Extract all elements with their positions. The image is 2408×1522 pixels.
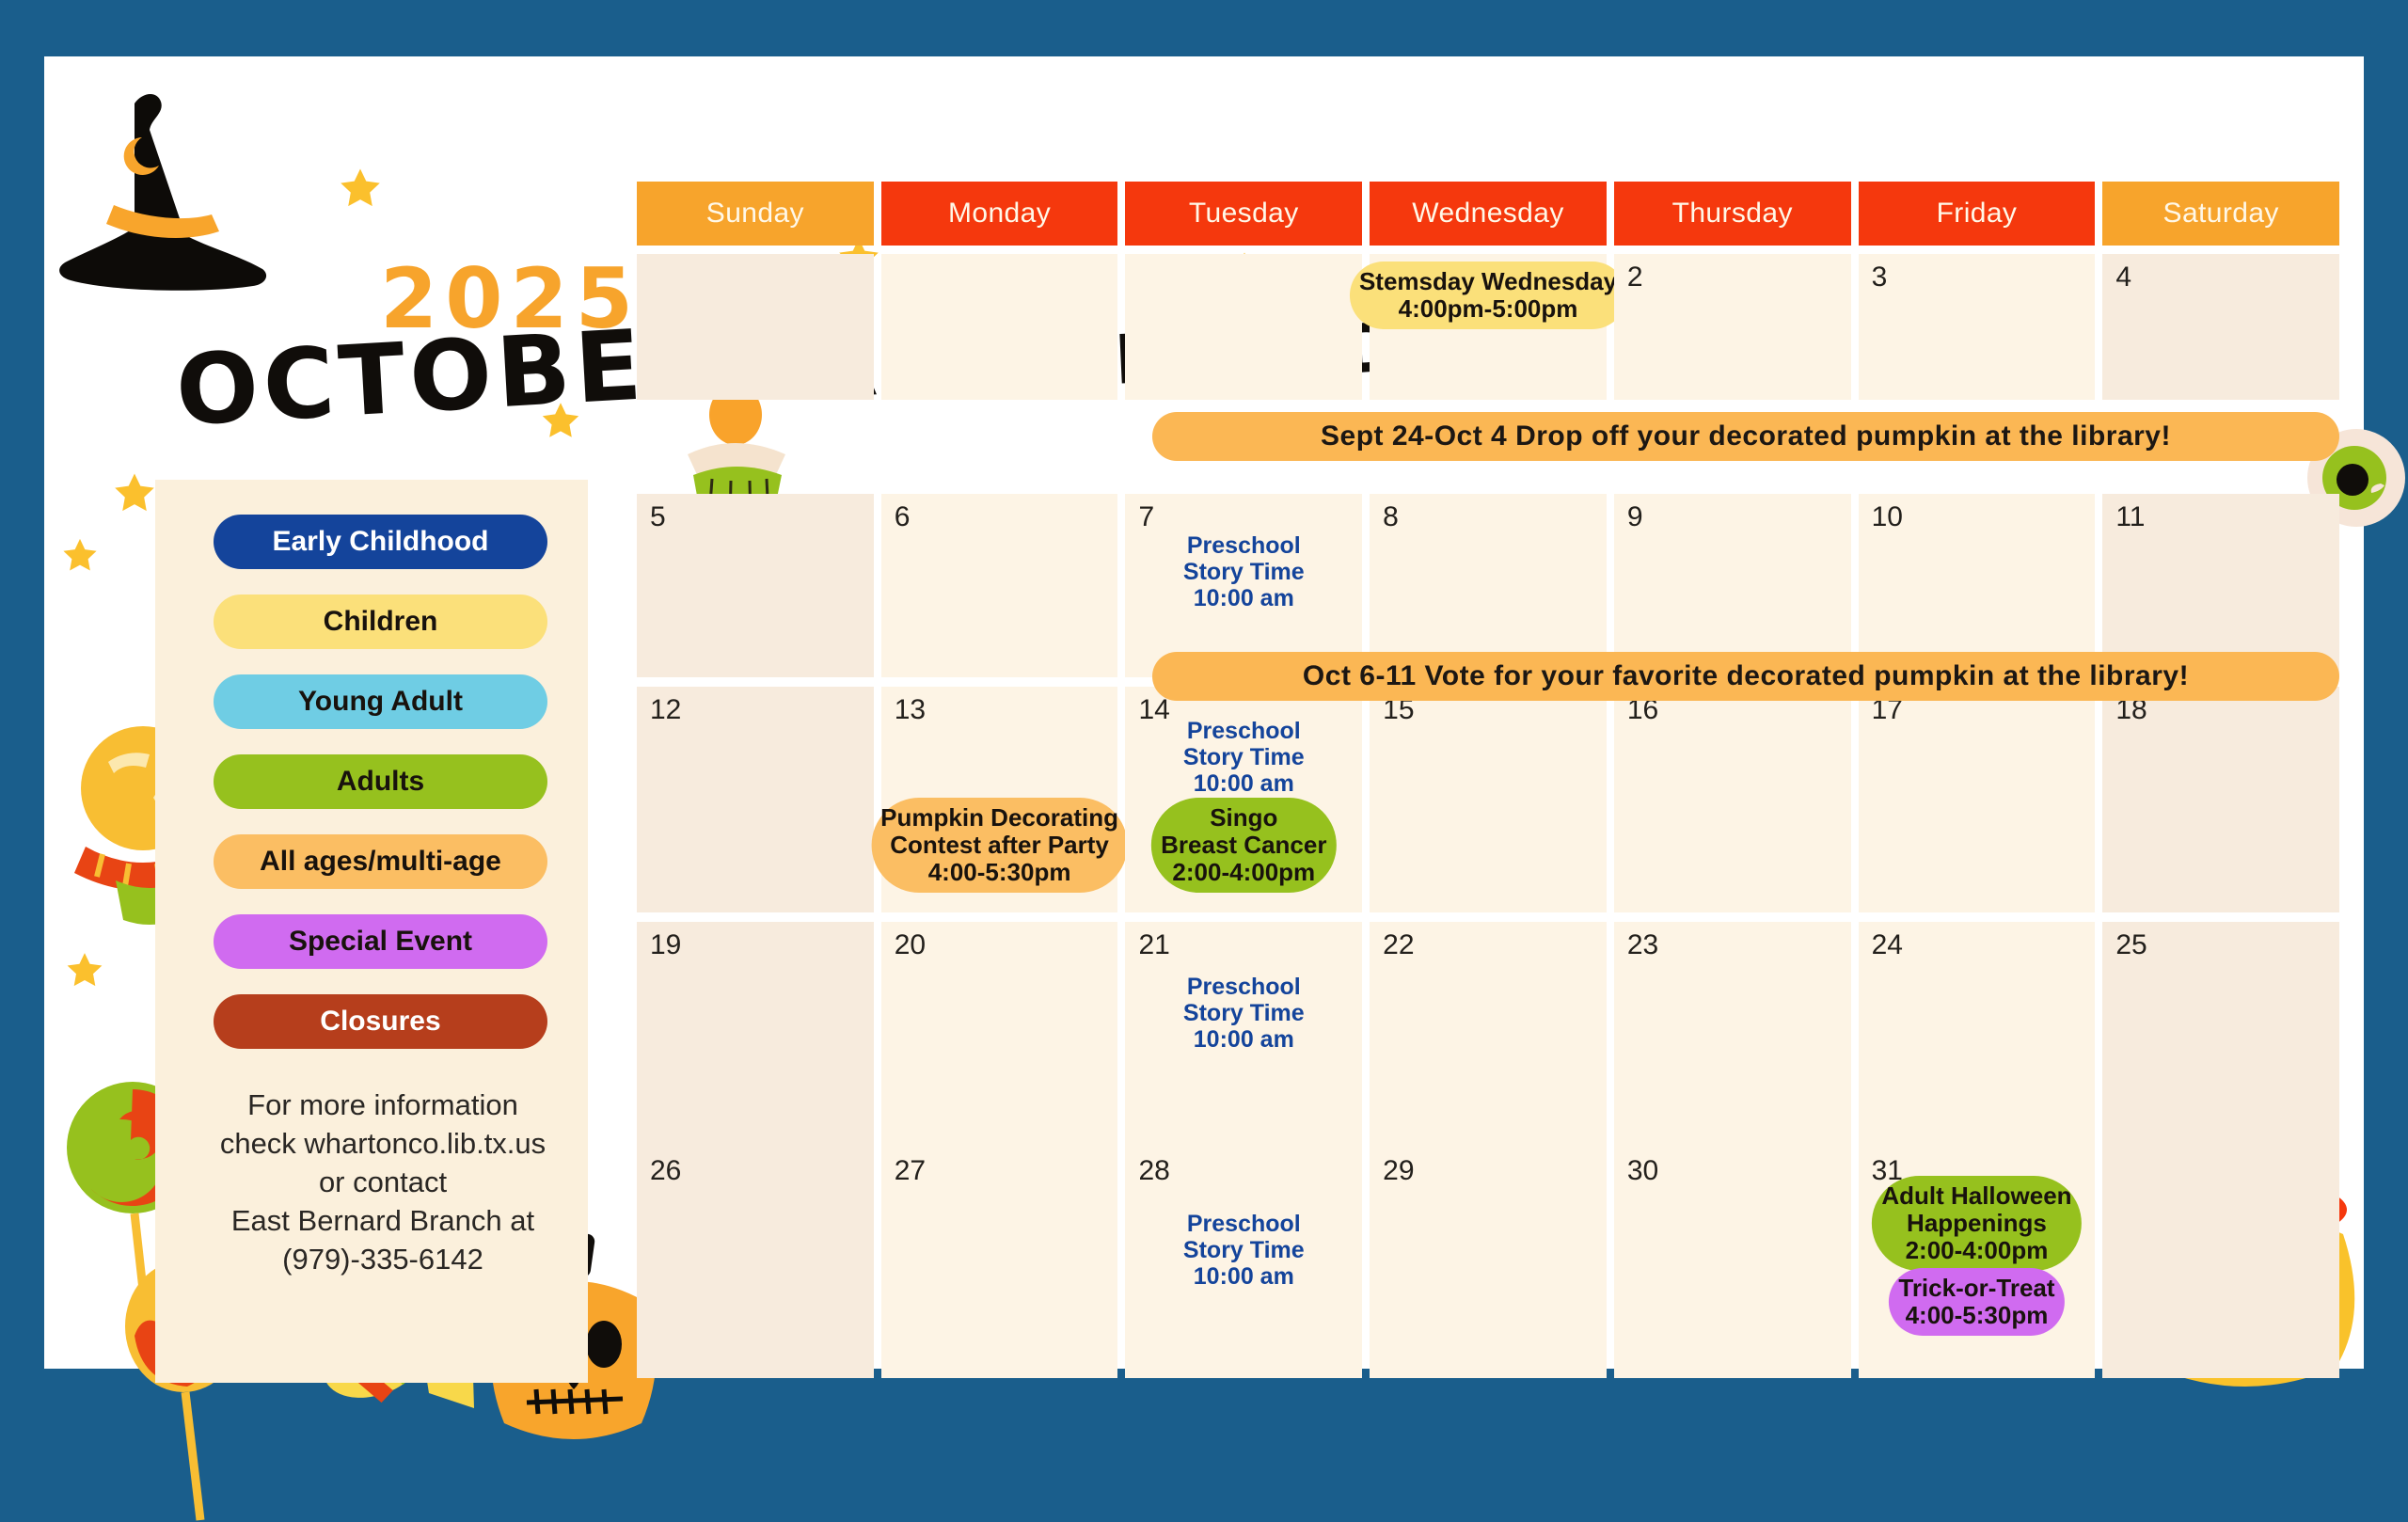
contact-line-1: For more information xyxy=(176,1086,590,1125)
event-time: 10:00 am xyxy=(1183,770,1305,797)
calendar-day-14[interactable]: 14PreschoolStory Time10:00 amSingoBreast… xyxy=(1125,687,1362,912)
event-title: Pumpkin Decorating xyxy=(880,804,1118,832)
star-icon xyxy=(63,950,106,993)
event-title: Preschool xyxy=(1183,1211,1305,1237)
day-number: 21 xyxy=(1138,929,1169,961)
calendar-day-25[interactable]: 25 xyxy=(2102,922,2339,1148)
weekday-header-saturday: Saturday xyxy=(2102,182,2339,246)
event-preschool-story-time[interactable]: PreschoolStory Time10:00 am xyxy=(1174,1204,1314,1296)
calendar-day-empty[interactable] xyxy=(637,254,874,400)
legend-item-closures[interactable]: Closures xyxy=(214,994,547,1049)
day-number: 5 xyxy=(650,501,666,533)
calendar-day-empty[interactable] xyxy=(1125,254,1362,400)
day-number: 30 xyxy=(1627,1155,1658,1187)
event-time: 2:00-4:00pm xyxy=(1161,859,1326,886)
contact-line-3: or contact xyxy=(176,1164,590,1202)
calendar-week-row: 567PreschoolStory Time10:00 am891011 xyxy=(637,494,2339,677)
calendar-day-10[interactable]: 10 xyxy=(1859,494,2096,677)
weekday-header-thursday: Thursday xyxy=(1614,182,1851,246)
drop-off-banner[interactable]: Sept 24-Oct 4 Drop off your decorated pu… xyxy=(1152,412,2339,461)
calendar-week-row: 1Stemsday Wednesday4:00pm-5:00pm234 xyxy=(637,254,2339,400)
calendar-day-2[interactable]: 2 xyxy=(1614,254,1851,400)
event-time: 10:00 am xyxy=(1183,1026,1305,1053)
calendar-grid: 1Stemsday Wednesday4:00pm-5:00pm234567Pr… xyxy=(637,254,2339,1369)
event-singo-breast-cancer[interactable]: SingoBreast Cancer2:00-4:00pm xyxy=(1151,798,1336,893)
event-preschool-story-time[interactable]: PreschoolStory Time10:00 am xyxy=(1174,526,1314,618)
legend-item-all-ages-multi-age[interactable]: All ages/multi-age xyxy=(214,834,547,889)
event-title-line2: Story Time xyxy=(1183,744,1305,770)
legend-item-early-childhood[interactable]: Early Childhood xyxy=(214,515,547,569)
weekday-header-sunday: Sunday xyxy=(637,182,874,246)
event-time: 4:00pm-5:00pm xyxy=(1359,295,1617,323)
calendar-day-empty[interactable] xyxy=(2102,1148,2339,1378)
calendar-poster: 2025 OCTOBER EAST BERNARD Early Childhoo… xyxy=(44,56,2364,1369)
event-stemsday-wednesday[interactable]: Stemsday Wednesday4:00pm-5:00pm xyxy=(1350,262,1626,329)
legend-item-children[interactable]: Children xyxy=(214,595,547,649)
calendar-day-5[interactable]: 5 xyxy=(637,494,874,677)
event-title-line2: Breast Cancer xyxy=(1161,832,1326,859)
calendar-day-28[interactable]: 28PreschoolStory Time10:00 am xyxy=(1125,1148,1362,1378)
event-time: 10:00 am xyxy=(1183,1263,1305,1290)
weekday-header-monday: Monday xyxy=(881,182,1118,246)
calendar-day-6[interactable]: 6 xyxy=(881,494,1118,677)
calendar-day-19[interactable]: 19 xyxy=(637,922,874,1148)
event-title-line2: Story Time xyxy=(1183,1237,1305,1263)
event-title: Preschool xyxy=(1183,974,1305,1000)
legend-list: Early ChildhoodChildrenYoung AdultAdults… xyxy=(214,515,547,1074)
day-number: 9 xyxy=(1627,501,1643,533)
calendar-day-17[interactable]: 17 xyxy=(1859,687,2096,912)
legend-item-special-event[interactable]: Special Event xyxy=(214,914,547,969)
calendar-day-20[interactable]: 20 xyxy=(881,922,1118,1148)
calendar-week-row: 192021PreschoolStory Time10:00 am2223242… xyxy=(637,922,2339,1148)
event-time: 2:00-4:00pm xyxy=(1881,1237,2071,1264)
day-number: 6 xyxy=(895,501,911,533)
event-title-line2: Contest after Party xyxy=(880,832,1118,859)
day-number: 23 xyxy=(1627,929,1658,961)
contact-line-4: East Bernard Branch at xyxy=(176,1202,590,1241)
day-number: 20 xyxy=(895,929,926,961)
calendar-day-16[interactable]: 16 xyxy=(1614,687,1851,912)
calendar-day-22[interactable]: 22 xyxy=(1370,922,1607,1148)
legend-item-young-adult[interactable]: Young Adult xyxy=(214,674,547,729)
day-number: 28 xyxy=(1138,1155,1169,1187)
event-time: 4:00-5:30pm xyxy=(1898,1302,2054,1329)
contact-info: For more information check whartonco.lib… xyxy=(176,1086,590,1279)
event-title: Singo xyxy=(1161,804,1326,832)
calendar-day-empty[interactable] xyxy=(881,254,1118,400)
event-title: Preschool xyxy=(1183,718,1305,744)
event-title: Adult Halloween xyxy=(1881,1182,2071,1210)
calendar-day-3[interactable]: 3 xyxy=(1859,254,2096,400)
vote-banner[interactable]: Oct 6-11 Vote for your favorite decorate… xyxy=(1152,652,2339,701)
day-number: 12 xyxy=(650,694,681,726)
day-number: 3 xyxy=(1872,262,1888,293)
calendar-day-15[interactable]: 15 xyxy=(1370,687,1607,912)
calendar-day-4[interactable]: 4 xyxy=(2102,254,2339,400)
event-adult-halloween-happenings[interactable]: Adult HalloweenHappenings2:00-4:00pm xyxy=(1872,1176,2081,1271)
calendar-week-row: 1213Pumpkin DecoratingContest after Part… xyxy=(637,687,2339,912)
calendar-week-row: 262728PreschoolStory Time10:00 am293031A… xyxy=(637,1148,2339,1378)
calendar-day-18[interactable]: 18 xyxy=(2102,687,2339,912)
weekday-header-tuesday: Tuesday xyxy=(1125,182,1362,246)
day-number: 26 xyxy=(650,1155,681,1187)
calendar-day-27[interactable]: 27 xyxy=(881,1148,1118,1378)
star-icon xyxy=(110,470,159,519)
calendar-day-21[interactable]: 21PreschoolStory Time10:00 am xyxy=(1125,922,1362,1148)
event-time: 10:00 am xyxy=(1183,585,1305,611)
calendar-day-29[interactable]: 29 xyxy=(1370,1148,1607,1378)
calendar-day-9[interactable]: 9 xyxy=(1614,494,1851,677)
calendar-day-1[interactable]: 1Stemsday Wednesday4:00pm-5:00pm xyxy=(1370,254,1607,400)
calendar-day-26[interactable]: 26 xyxy=(637,1148,874,1378)
day-number: 7 xyxy=(1138,501,1154,533)
day-number: 14 xyxy=(1138,694,1169,726)
day-number: 25 xyxy=(2115,929,2147,961)
event-title: Stemsday Wednesday xyxy=(1359,268,1617,295)
day-number: 4 xyxy=(2115,262,2131,293)
calendar-day-24[interactable]: 24 xyxy=(1859,922,2096,1148)
calendar-day-30[interactable]: 30 xyxy=(1614,1148,1851,1378)
day-number: 29 xyxy=(1383,1155,1414,1187)
day-number: 10 xyxy=(1872,501,1903,533)
weekday-header-friday: Friday xyxy=(1859,182,2096,246)
event-trick-or-treat[interactable]: Trick-or-Treat4:00-5:30pm xyxy=(1889,1268,2064,1336)
calendar-day-8[interactable]: 8 xyxy=(1370,494,1607,677)
event-title-line2: Story Time xyxy=(1183,1000,1305,1026)
event-title-line2: Story Time xyxy=(1183,559,1305,585)
event-title-line2: Happenings xyxy=(1881,1210,2071,1237)
calendar-day-13[interactable]: 13Pumpkin DecoratingContest after Party4… xyxy=(881,687,1118,912)
star-icon xyxy=(59,536,101,578)
day-number: 2 xyxy=(1627,262,1643,293)
day-number: 8 xyxy=(1383,501,1399,533)
weekday-header-wednesday: Wednesday xyxy=(1370,182,1607,246)
event-preschool-story-time[interactable]: PreschoolStory Time10:00 am xyxy=(1174,711,1314,803)
calendar-day-12[interactable]: 12 xyxy=(637,687,874,912)
event-title: Preschool xyxy=(1183,532,1305,559)
calendar-day-31[interactable]: 31Adult HalloweenHappenings2:00-4:00pmTr… xyxy=(1859,1148,2096,1378)
contact-line-5: (979)-335-6142 xyxy=(176,1241,590,1279)
calendar-day-7[interactable]: 7PreschoolStory Time10:00 am xyxy=(1125,494,1362,677)
event-preschool-story-time[interactable]: PreschoolStory Time10:00 am xyxy=(1174,967,1314,1059)
calendar-day-11[interactable]: 11 xyxy=(2102,494,2339,677)
event-pumpkin-decorating-contest[interactable]: Pumpkin DecoratingContest after Party4:0… xyxy=(871,798,1128,893)
contact-line-2: check whartonco.lib.tx.us xyxy=(176,1125,590,1164)
day-number: 13 xyxy=(895,694,926,726)
event-title: Trick-or-Treat xyxy=(1898,1275,2054,1302)
event-time: 4:00-5:30pm xyxy=(880,859,1118,886)
witch-hat-icon xyxy=(44,85,289,320)
day-number: 22 xyxy=(1383,929,1414,961)
calendar-day-23[interactable]: 23 xyxy=(1614,922,1851,1148)
star-icon xyxy=(336,166,385,214)
weekday-header-bar: SundayMondayTuesdayWednesdayThursdayFrid… xyxy=(637,182,2339,246)
day-number: 24 xyxy=(1872,929,1903,961)
legend-item-adults[interactable]: Adults xyxy=(214,754,547,809)
day-number: 19 xyxy=(650,929,681,961)
day-number: 11 xyxy=(2115,501,2145,533)
day-number: 27 xyxy=(895,1155,926,1187)
